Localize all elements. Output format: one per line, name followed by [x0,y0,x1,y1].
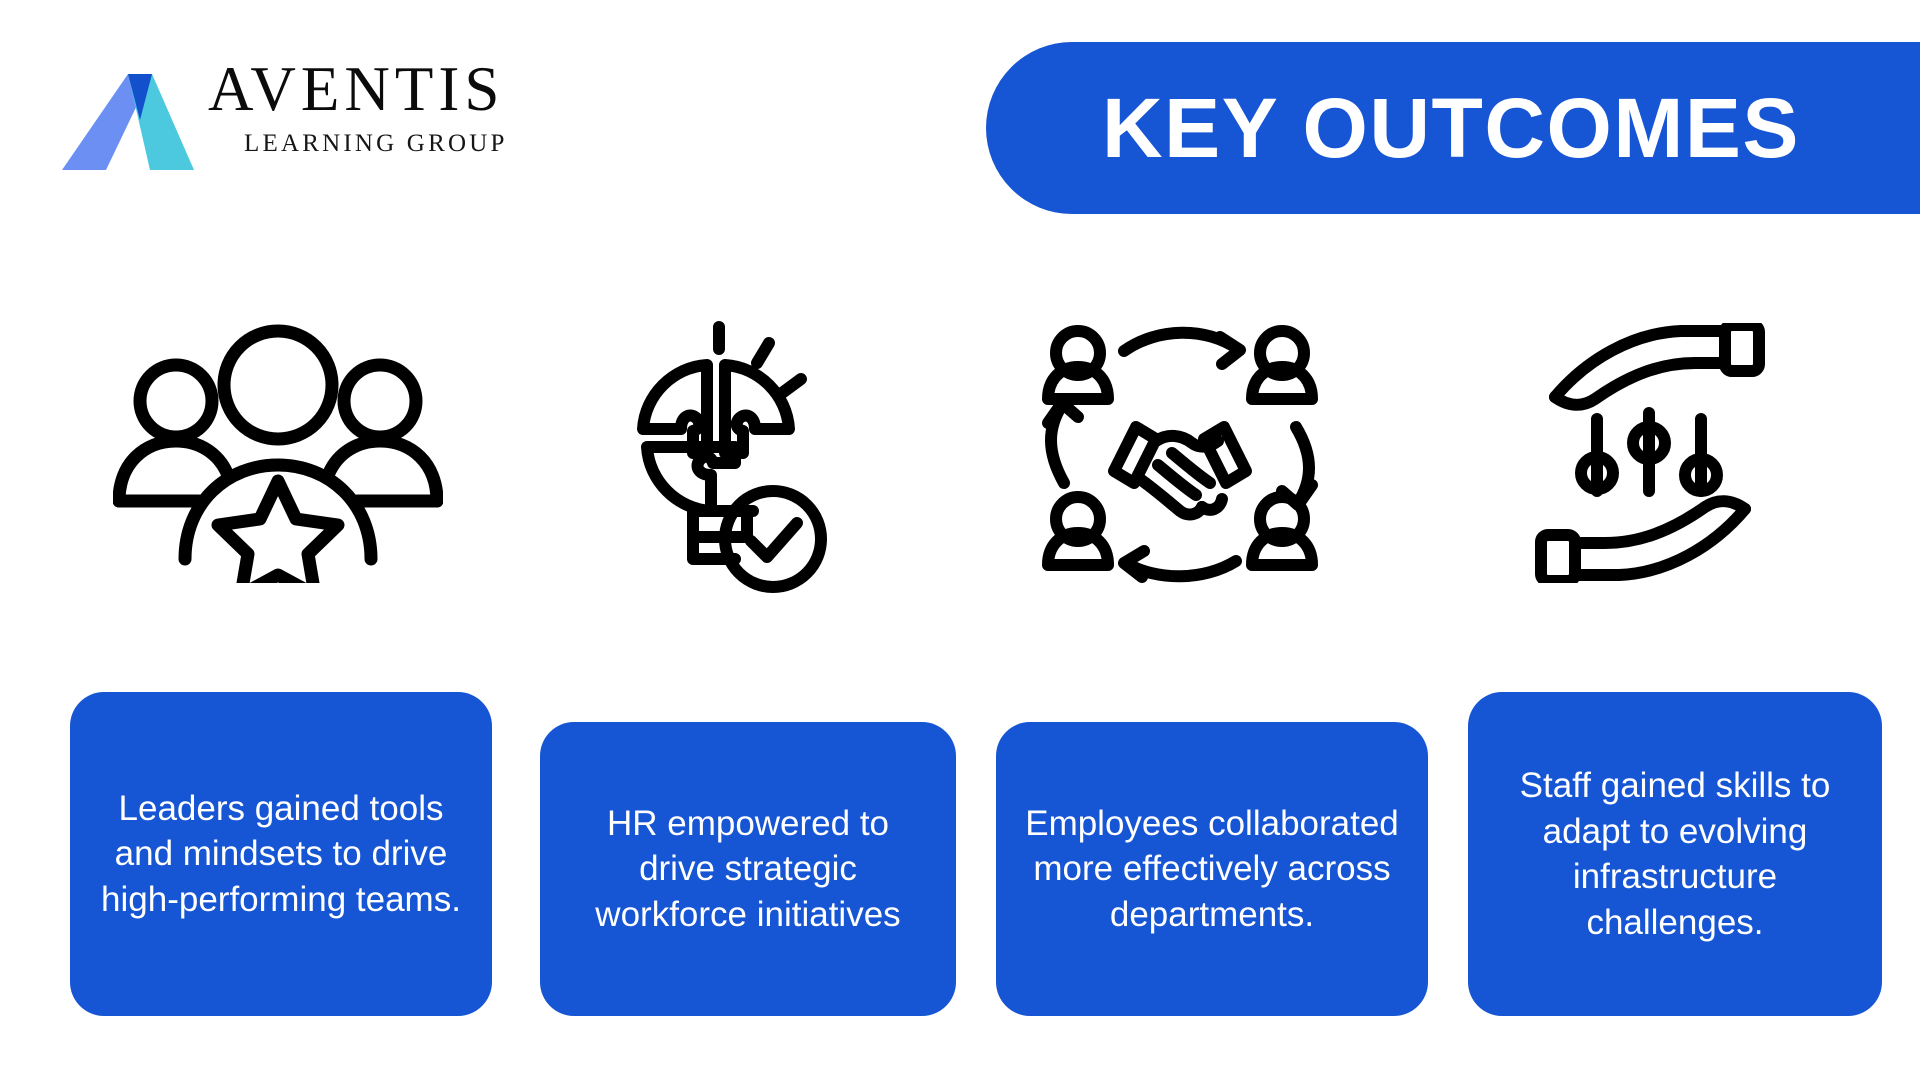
outcome-card-3[interactable]: Staff gained skills to adapt to evolving… [1468,692,1882,1016]
outcome-card-text-3: Staff gained skills to adapt to evolving… [1494,763,1856,945]
outcome-card-text-1: HR empowered to drive strategic workforc… [566,801,930,938]
logo-wordmark: AVENTIS LEARNING GROUP [208,58,548,170]
handshake-collaboration-icon [1040,323,1320,583]
outcome-card-text-2: Employees collaborated more effectively … [1022,801,1402,938]
aventis-logo: AVENTIS LEARNING GROUP [62,58,542,170]
outcome-card-text-0: Leaders gained tools and mindsets to dri… [96,786,466,923]
aventis-a-mark-icon [62,74,194,170]
outcome-icon-3 [1500,288,1800,618]
outcome-card-1[interactable]: HR empowered to drive strategic workforc… [540,722,956,1016]
outcome-icon-0 [78,288,478,618]
outcome-icon-1 [580,288,860,618]
outcome-card-2[interactable]: Employees collaborated more effectively … [996,722,1428,1016]
logo-title: AVENTIS [208,58,548,121]
slide-canvas: AVENTIS LEARNING GROUP KEY OUTCOMES [0,0,1920,1080]
page-title: KEY OUTCOMES [1102,86,1800,170]
puzzle-lightbulb-check-icon [601,313,839,593]
team-star-icon [113,323,443,583]
hands-sliders-icon [1525,323,1775,583]
outcome-card-0[interactable]: Leaders gained tools and mindsets to dri… [70,692,492,1016]
logo-subtitle: LEARNING GROUP [244,131,548,156]
outcome-icon-2 [1030,288,1330,618]
header-banner: KEY OUTCOMES [986,42,1920,214]
